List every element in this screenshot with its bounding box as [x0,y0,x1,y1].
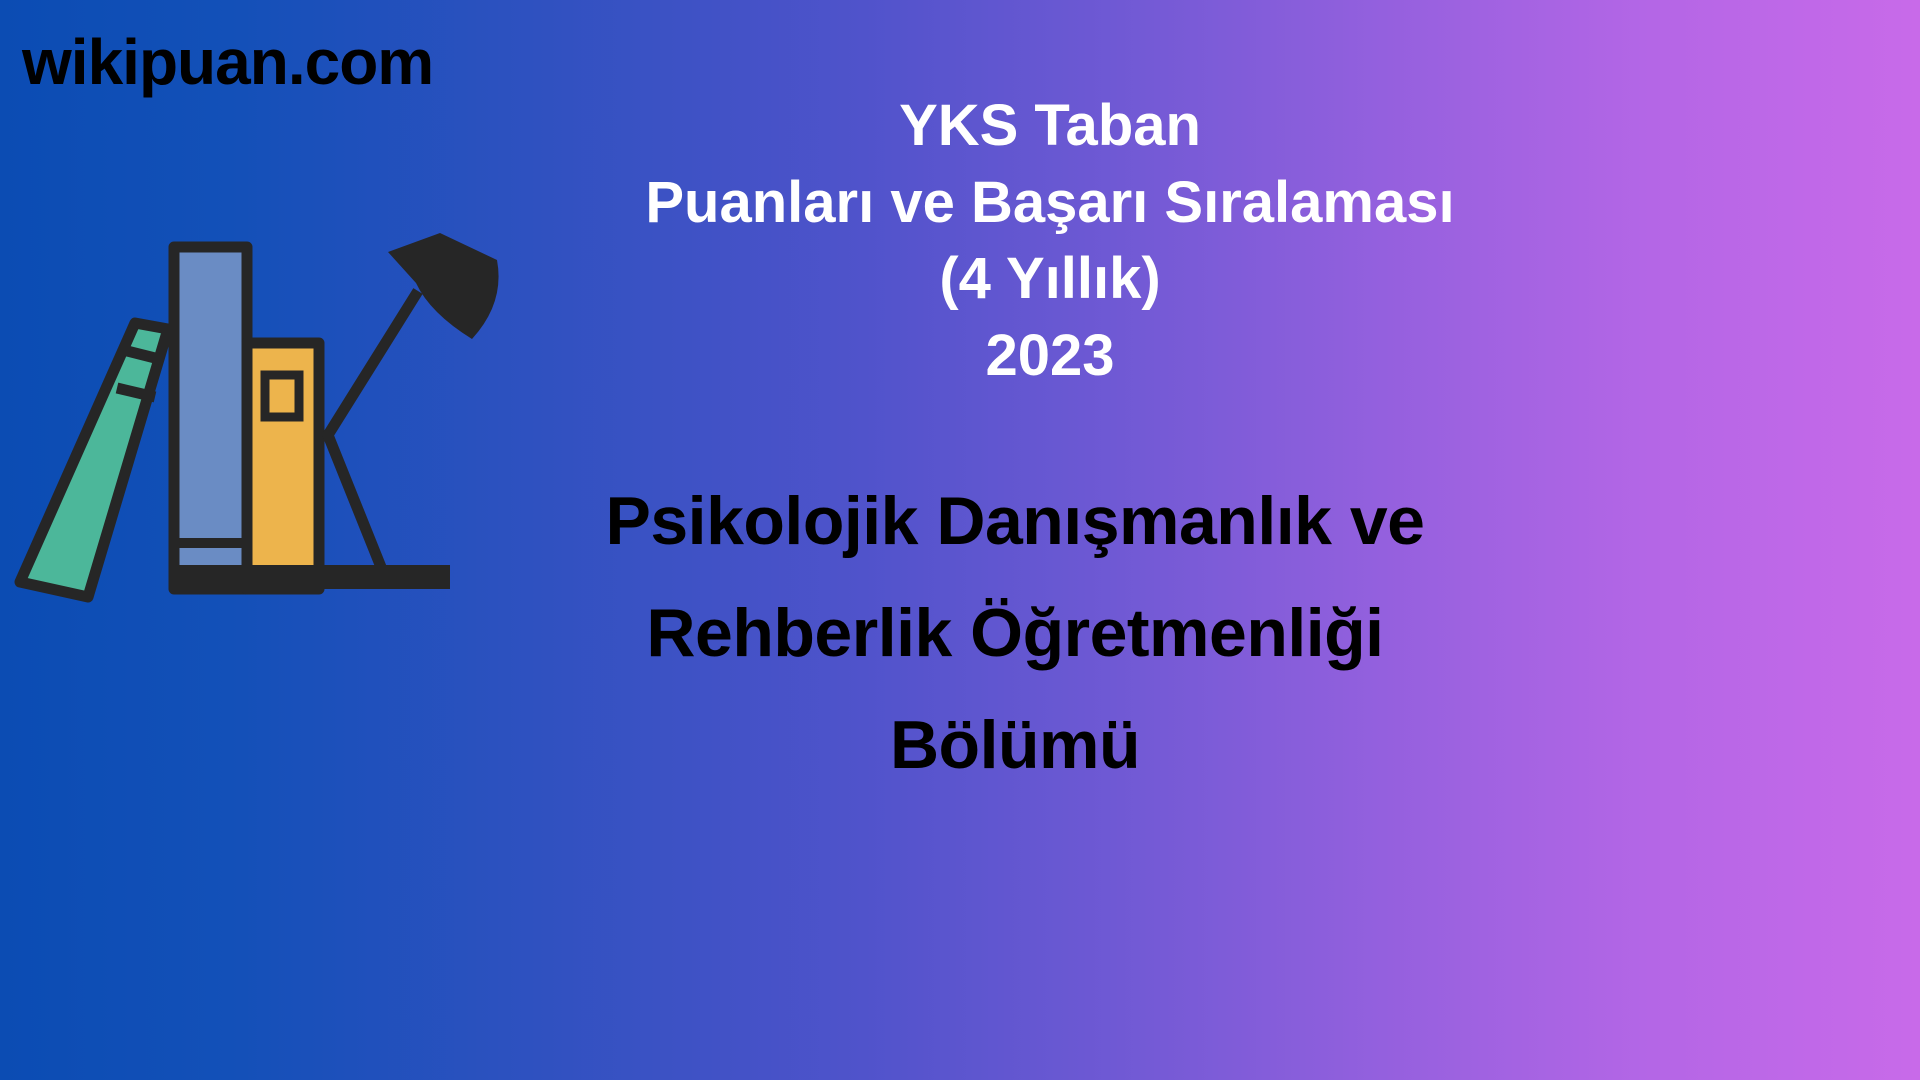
title-line-3: (4 Yıllık) [585,241,1515,318]
shelf-base [170,565,450,589]
program-line-3: Bölümü [470,689,1560,801]
green-book-icon [20,323,168,597]
program-line-1: Psikolojik Danışmanlık ve [470,465,1560,577]
title-line-2: Puanları ve Başarı Sıralaması [585,165,1515,242]
page-title: YKS Taban Puanları ve Başarı Sıralaması … [585,88,1515,394]
blue-book-icon [174,247,247,589]
program-line-2: Rehberlik Öğretmenliği [470,577,1560,689]
program-name: Psikolojik Danışmanlık ve Rehberlik Öğre… [470,465,1560,802]
site-watermark: wikipuan.com [22,30,433,94]
title-line-1: YKS Taban [585,88,1515,165]
title-line-4-year: 2023 [585,318,1515,395]
orange-book-icon [247,343,319,589]
